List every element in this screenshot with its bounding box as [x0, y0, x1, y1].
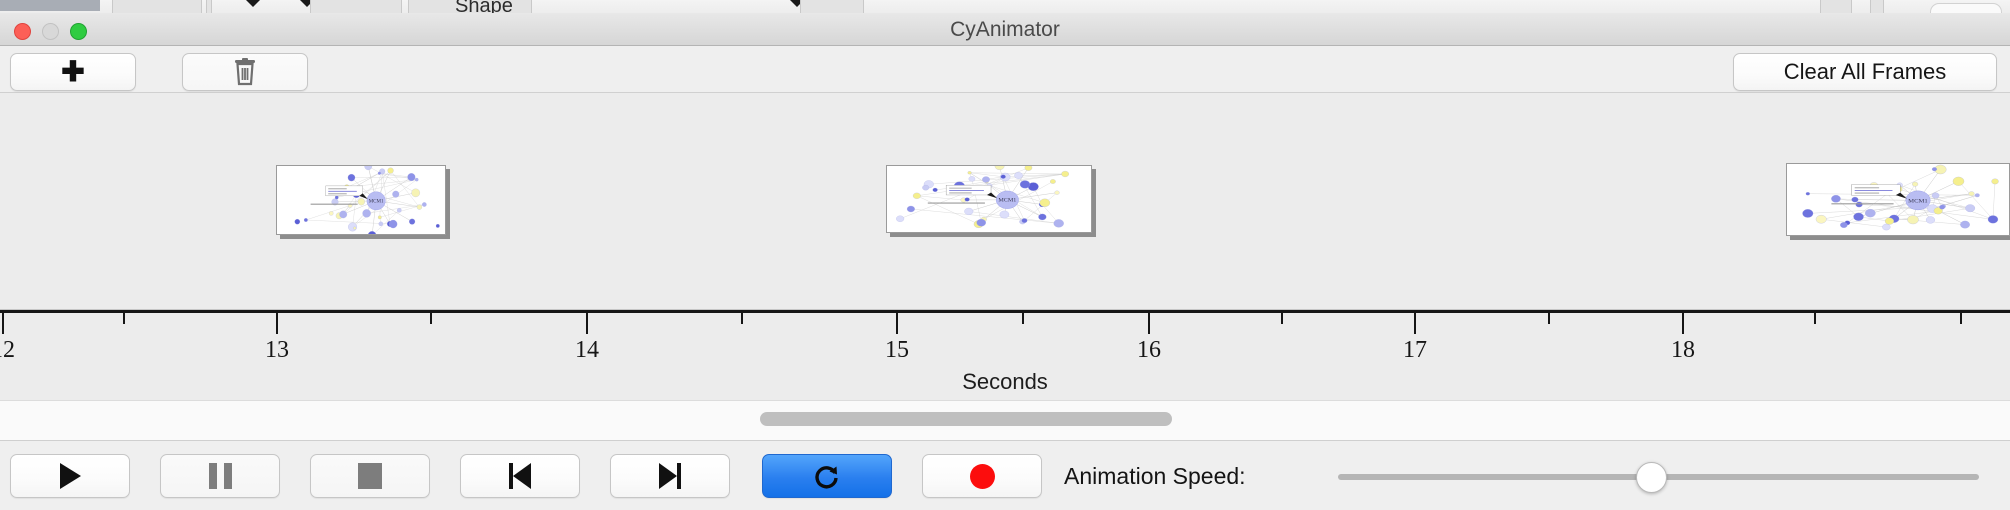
background-chip: [1870, 0, 1884, 13]
background-ghost-label: Shape: [455, 0, 513, 13]
ruler-minor-tick: [741, 313, 743, 324]
ruler-baseline: [0, 310, 2010, 313]
svg-text:MCM1: MCM1: [1908, 199, 1928, 204]
frame-thumbnail-3[interactable]: MCM1: [1786, 163, 2010, 236]
frame-thumbnail-2[interactable]: MCM1: [886, 165, 1092, 233]
background-chip: [1820, 0, 1852, 13]
frames-toolbar: ✚ Clear All Frames: [0, 46, 2010, 93]
loop-icon: [812, 461, 842, 491]
ruler-axis-title: Seconds: [0, 369, 2010, 395]
ruler-major-tick: [1682, 313, 1684, 334]
ruler-minor-tick: [1960, 313, 1962, 324]
background-window-strip: Shape: [0, 0, 2010, 13]
timeline-ruler: Seconds 12131415161718: [0, 310, 2010, 395]
ruler-tick-label: 16: [1137, 337, 1161, 364]
svg-text:MCM1: MCM1: [369, 200, 384, 205]
record-icon: [970, 464, 995, 489]
background-chip: [206, 0, 212, 13]
skip-forward-icon: [659, 463, 681, 489]
background-chip: [800, 0, 864, 13]
ruler-minor-tick: [1022, 313, 1024, 324]
animation-speed-label: Animation Speed:: [1064, 463, 1246, 490]
ruler-minor-tick: [1281, 313, 1283, 324]
stop-button[interactable]: [310, 454, 430, 498]
background-arc: [1930, 3, 2002, 13]
add-frame-button[interactable]: ✚: [10, 53, 136, 91]
stop-icon: [358, 463, 382, 489]
animation-speed-slider-thumb[interactable]: [1636, 462, 1667, 493]
svg-text:MCM1: MCM1: [998, 198, 1016, 203]
ruler-minor-tick: [1548, 313, 1550, 324]
delete-frame-button[interactable]: [182, 53, 308, 91]
trash-icon: [233, 58, 257, 86]
skip-to-start-button[interactable]: [460, 454, 580, 498]
pause-button[interactable]: [160, 454, 280, 498]
background-chip: [310, 0, 402, 13]
ruler-major-tick: [276, 313, 278, 334]
playback-transport-bar: Animation Speed:: [0, 440, 2010, 510]
window-title: CyAnimator: [0, 18, 2010, 42]
timeline-scrollbar[interactable]: [0, 400, 2010, 440]
record-button[interactable]: [922, 454, 1042, 498]
ruler-tick-label: 18: [1671, 337, 1695, 364]
skip-to-end-button[interactable]: [610, 454, 730, 498]
timeline-scrollbar-thumb[interactable]: [760, 412, 1172, 426]
frame-thumbnail-1[interactable]: MCM1: [276, 165, 446, 235]
ruler-major-tick: [896, 313, 898, 334]
ruler-major-tick: [1414, 313, 1416, 334]
ruler-minor-tick: [123, 313, 125, 324]
ruler-tick-label: 17: [1403, 337, 1427, 364]
background-dark-bar: [0, 0, 100, 11]
ruler-minor-tick: [1814, 313, 1816, 324]
plus-icon: ✚: [61, 58, 84, 86]
ruler-tick-label: 14: [575, 337, 599, 364]
ruler-major-tick: [2, 313, 4, 334]
title-bar[interactable]: CyAnimator: [0, 13, 2010, 46]
ruler-major-tick: [1148, 313, 1150, 334]
ruler-major-tick: [586, 313, 588, 334]
ruler-tick-label: 12: [0, 337, 15, 364]
background-chip: [112, 0, 202, 13]
ruler-tick-label: 13: [265, 337, 289, 364]
play-button[interactable]: [10, 454, 130, 498]
background-caret-icon: [246, 0, 260, 7]
ruler-minor-tick: [430, 313, 432, 324]
play-icon: [60, 463, 81, 489]
skip-back-icon: [509, 463, 531, 489]
ruler-tick-label: 15: [885, 337, 909, 364]
pause-icon: [209, 463, 232, 489]
clear-all-frames-button[interactable]: Clear All Frames: [1733, 53, 1997, 91]
timeline-frames-area[interactable]: MCM1MCM1MCM1: [0, 93, 2010, 310]
loop-button[interactable]: [762, 454, 892, 498]
cyanimator-window: Shape CyAnimator ✚ Clear All Frames: [0, 0, 2010, 510]
